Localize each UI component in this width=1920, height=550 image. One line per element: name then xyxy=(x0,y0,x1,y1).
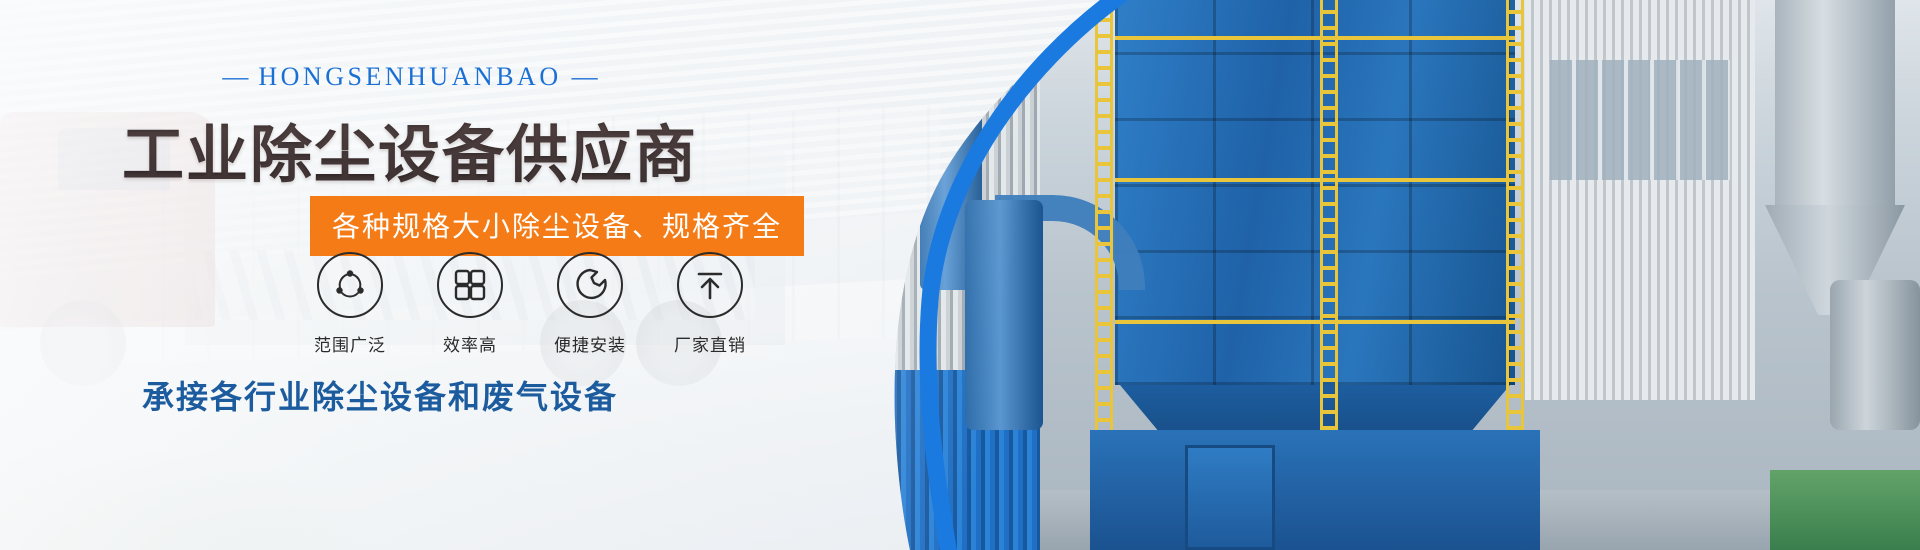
grid-four-squares-icon xyxy=(437,252,503,318)
banner-content: —HONGSENHUANBAO— 工业除尘设备供应商 各种规格大小除尘设备、规格… xyxy=(0,0,820,550)
eyebrow-dash-left: — xyxy=(212,62,258,91)
upload-arrow-icon xyxy=(677,252,743,318)
brand-pinyin-eyebrow: —HONGSENHUANBAO— xyxy=(0,62,820,92)
feature-list: 范围广泛 效率高 xyxy=(300,252,760,356)
feature-label: 效率高 xyxy=(420,331,520,356)
feature-label: 便捷安装 xyxy=(540,331,640,356)
eyebrow-dash-right: — xyxy=(562,62,608,91)
banner-tagline: 承接各行业除尘设备和废气设备 xyxy=(0,372,760,418)
page-title: 工业除尘设备供应商 xyxy=(0,104,820,194)
network-nodes-icon xyxy=(317,252,383,318)
feature-item-easy-install[interactable]: 便捷安装 xyxy=(540,252,640,356)
blue-arc-divider xyxy=(790,0,1920,550)
feature-label: 厂家直销 xyxy=(660,331,760,356)
subtitle-orange-bar: 各种规格大小除尘设备、规格齐全 xyxy=(310,196,804,256)
feature-item-factory-direct[interactable]: 厂家直销 xyxy=(660,252,760,356)
feature-label: 范围广泛 xyxy=(300,331,400,356)
promo-banner: —HONGSENHUANBAO— 工业除尘设备供应商 各种规格大小除尘设备、规格… xyxy=(0,0,1920,550)
feature-item-high-efficiency[interactable]: 效率高 xyxy=(420,252,520,356)
feature-item-wide-range[interactable]: 范围广泛 xyxy=(300,252,400,356)
wrench-icon xyxy=(557,252,623,318)
eyebrow-text: HONGSENHUANBAO xyxy=(258,62,561,91)
